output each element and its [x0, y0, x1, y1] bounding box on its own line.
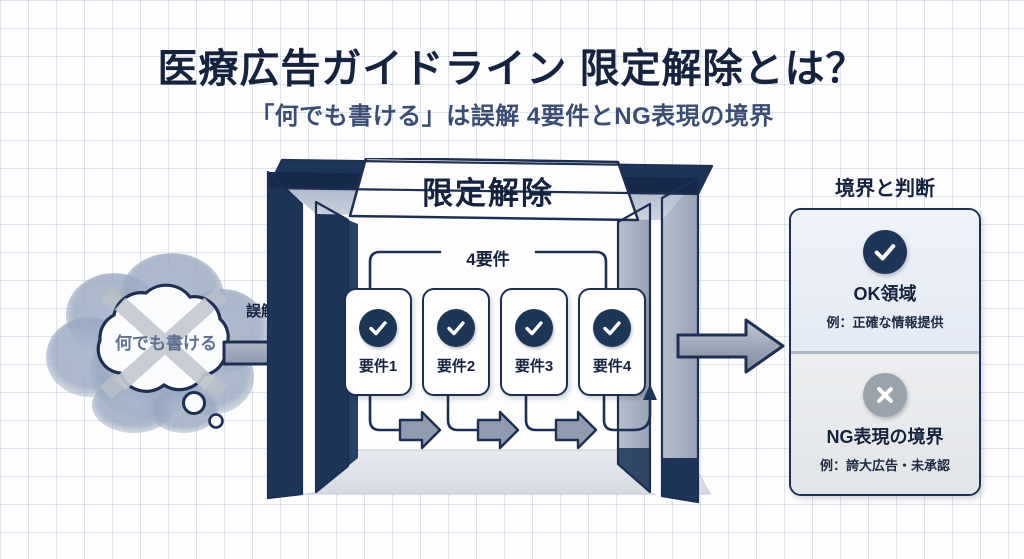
requirement-card-4[interactable]: 要件4	[578, 288, 646, 396]
gate-banner-label: 限定解除	[258, 168, 718, 213]
judgement-panel: OK領域 例：正確な情報提供 NG表現の境界 例：誇大広告・未承認	[789, 208, 981, 496]
page-subtitle: 「何でも書ける」は誤解 4要件とNG表現の境界	[0, 96, 1024, 131]
ok-section[interactable]: OK領域 例：正確な情報提供	[791, 210, 979, 351]
check-circle-icon	[863, 230, 907, 274]
requirement-label: 要件3	[515, 355, 553, 376]
ng-heading: NG表現の境界	[827, 423, 944, 449]
check-circle-icon	[515, 309, 553, 347]
check-circle-icon	[593, 309, 631, 347]
requirement-label: 要件1	[359, 355, 397, 376]
check-circle-icon	[359, 309, 397, 347]
x-circle-icon	[863, 373, 907, 417]
requirement-card-1[interactable]: 要件1	[344, 288, 412, 396]
check-circle-icon	[437, 309, 475, 347]
requirement-card-3[interactable]: 要件3	[500, 288, 568, 396]
ng-section[interactable]: NG表現の境界 例：誇大広告・未承認	[791, 351, 979, 495]
requirement-label: 要件2	[437, 355, 475, 376]
infographic-canvas: 医療広告ガイドライン 限定解除とは？ 「何でも書ける」は誤解 4要件とNG表現の…	[0, 0, 1024, 559]
ok-example: 例：正確な情報提供	[826, 312, 943, 331]
ng-example: 例：誇大広告・未承認	[820, 455, 950, 474]
panel-title: 境界と判断	[780, 172, 990, 201]
requirement-card-2[interactable]: 要件2	[422, 288, 490, 396]
requirement-label: 要件4	[593, 355, 631, 376]
requirements-bracket-label: 4要件	[258, 245, 718, 270]
ok-heading: OK領域	[854, 280, 917, 306]
page-title: 医療広告ガイドライン 限定解除とは？	[0, 36, 1024, 94]
exit-arrow	[676, 318, 786, 379]
arrow-right-icon	[676, 318, 786, 374]
